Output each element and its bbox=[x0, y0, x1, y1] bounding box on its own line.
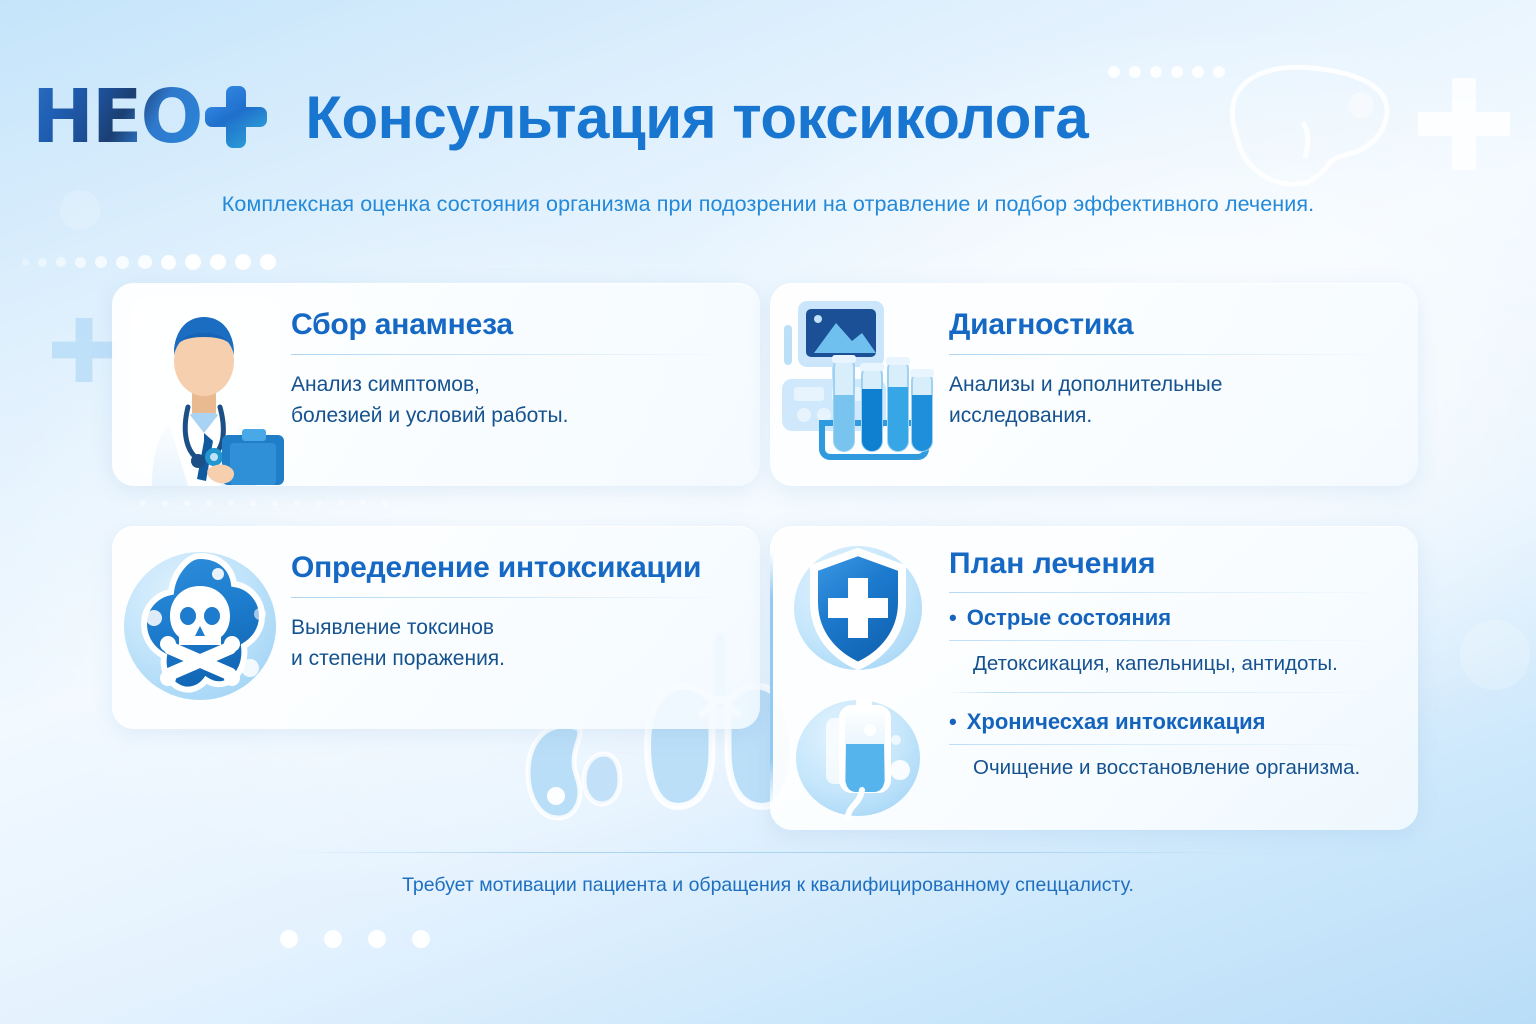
card-sbor-anamneza[interactable]: Сбор анамнеза Анализ симптомов, болезией… bbox=[112, 283, 760, 486]
plan-item-heading: • Острые состояния bbox=[949, 605, 1388, 631]
card-description: Анализ симптомов, болезией и условий раб… bbox=[291, 369, 730, 433]
plan-item-heading: • Хроничесхая интоксикация bbox=[949, 709, 1388, 735]
card-title: Диагностика bbox=[949, 309, 1388, 341]
card-opredelenie-intoksikacii[interactable]: Определение интоксикации Выявление токси… bbox=[112, 526, 760, 729]
page-subtitle: Комплексная оценка состояния организма п… bbox=[0, 192, 1536, 217]
footer-note: Требует мотивации пациента и обращения к… bbox=[0, 874, 1536, 897]
plan-icons-column bbox=[770, 526, 945, 830]
card-diagnostika[interactable]: Диагностика Анализы и дополнительные исс… bbox=[770, 283, 1418, 486]
card-description-line: исследования. bbox=[949, 400, 1388, 432]
card-plan-lecheniya[interactable]: План лечения • Острые состояния Детоксик… bbox=[770, 526, 1418, 830]
dot-row-icon bbox=[280, 930, 456, 948]
card-description-line: и степени поражения. bbox=[291, 643, 730, 675]
dot-row-icon bbox=[140, 500, 404, 506]
card-description-line: Анализы и дополнительные bbox=[949, 369, 1388, 401]
card-description-line: Анализ симптомов, bbox=[291, 369, 730, 401]
plan-item-description: Детоксикация, капельницы, антидоты. bbox=[949, 650, 1388, 679]
card-title: Определение интоксикации bbox=[291, 552, 730, 584]
dot-row-icon bbox=[22, 254, 285, 270]
infographic-poster: HEO Консультация токсиколога Комплексная… bbox=[0, 0, 1536, 1024]
card-description: Выявление токсинов и степени поражения. bbox=[291, 612, 730, 676]
decor-circle bbox=[1460, 620, 1530, 690]
page-title: Консультация токсиколога bbox=[305, 83, 1088, 152]
plan-item-description: Очищение и восстановление организма. bbox=[949, 754, 1388, 783]
toxin-skull-icon bbox=[112, 526, 287, 729]
plan-item-chronic[interactable]: • Хроничесхая интоксикация Очищение и во… bbox=[949, 709, 1388, 783]
brand-logo-text: HEO bbox=[32, 80, 201, 154]
brand-logo: HEO bbox=[32, 78, 267, 156]
card-divider bbox=[949, 354, 1388, 355]
bullet-icon: • bbox=[949, 711, 957, 733]
page-header: HEO Консультация токсиколога bbox=[0, 62, 1536, 172]
doctor-icon bbox=[112, 283, 287, 486]
kidney-icon bbox=[520, 718, 640, 828]
plan-item-acute[interactable]: • Острые состояния Детоксикация, капельн… bbox=[949, 605, 1388, 679]
plus-icon bbox=[205, 86, 267, 148]
plan-item-divider bbox=[949, 640, 1388, 641]
plan-item-divider bbox=[949, 744, 1388, 745]
plan-item-label: Хроничесхая интоксикация bbox=[967, 709, 1266, 735]
card-description-line: Выявление токсинов bbox=[291, 612, 730, 644]
lab-equipment-icon bbox=[770, 283, 945, 486]
card-title: Сбор анамнеза bbox=[291, 309, 730, 341]
card-divider bbox=[291, 597, 730, 598]
plan-item-label: Острые состояния bbox=[967, 605, 1171, 631]
card-description: Анализы и дополнительные исследования. bbox=[949, 369, 1388, 433]
card-divider bbox=[949, 592, 1388, 593]
medical-cross-icon bbox=[52, 318, 116, 382]
footer-divider bbox=[288, 852, 1248, 853]
plan-section-divider bbox=[949, 692, 1388, 693]
card-title: План лечения bbox=[949, 548, 1388, 580]
bullet-icon: • bbox=[949, 607, 957, 629]
card-description-line: болезией и условий работы. bbox=[291, 400, 730, 432]
card-divider bbox=[291, 354, 730, 355]
